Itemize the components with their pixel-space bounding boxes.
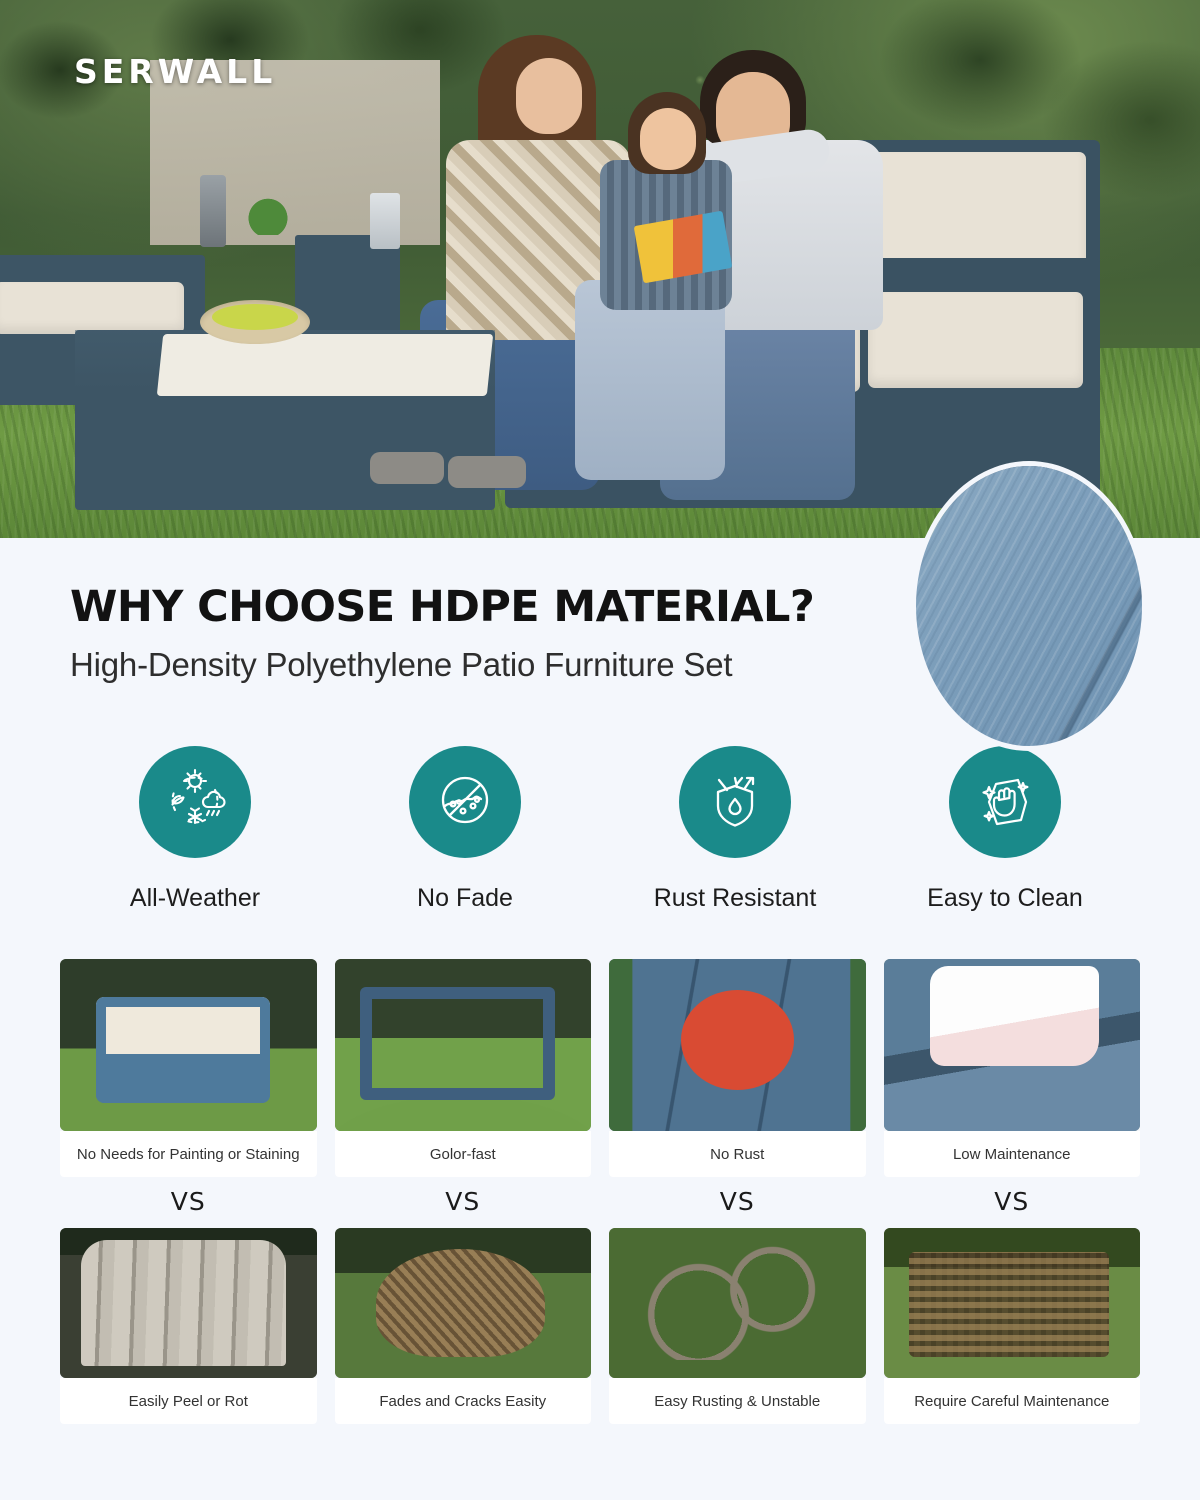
- comparison-cell: Easy Rusting & Unstable: [609, 1228, 866, 1424]
- lantern-decor: [200, 175, 226, 247]
- feature-label: Easy to Clean: [927, 884, 1083, 913]
- hand-wiping-blue-surface-photo: [884, 959, 1141, 1131]
- hdpe-photo-row: No Needs for Painting or Staining Golor-…: [60, 959, 1140, 1177]
- photo-caption: Fades and Cracks Easity: [335, 1378, 592, 1424]
- feature-label: No Fade: [417, 884, 513, 913]
- vs-label: VS: [60, 1187, 317, 1216]
- chair-left-cushion: [0, 282, 184, 334]
- hand-wiping-cloth-icon: [969, 764, 1041, 841]
- photo-caption: Golor-fast: [335, 1131, 592, 1177]
- shoe-left: [370, 452, 444, 484]
- comparison-cell: Fades and Cracks Easity: [335, 1228, 592, 1424]
- feature-rust-resistant: Rust Resistant: [600, 746, 870, 913]
- feature-icon-badge: [949, 746, 1061, 858]
- blue-table-with-fruit-photo: [609, 959, 866, 1131]
- shield-water-drop-icon: [699, 764, 771, 841]
- feature-no-fade: No Fade: [330, 746, 600, 913]
- feature-all-weather: All-Weather: [60, 746, 330, 913]
- hdpe-material-swatch: [916, 466, 1142, 746]
- comparison-cell: Require Careful Maintenance: [884, 1228, 1141, 1424]
- brand-logo: SERWALL: [74, 52, 276, 91]
- vs-separator-row: VS VS VS VS: [60, 1187, 1140, 1216]
- feature-easy-to-clean: Easy to Clean: [870, 746, 1140, 913]
- feature-label: All-Weather: [130, 884, 260, 913]
- photo-caption: No Rust: [609, 1131, 866, 1177]
- comparison-cell: No Needs for Painting or Staining: [60, 959, 317, 1177]
- other-materials-photo-row: Easily Peel or Rot Fades and Cracks Easi…: [60, 1228, 1140, 1424]
- blue-hdpe-chair-on-lawn-photo: [335, 959, 592, 1131]
- comparison-grid: No Needs for Painting or Staining Golor-…: [60, 959, 1140, 1424]
- boy-face: [640, 108, 696, 170]
- feature-label: Rust Resistant: [654, 884, 817, 913]
- feature-list: All-Weather No Fade: [60, 746, 1140, 913]
- comparison-cell: No Rust: [609, 959, 866, 1177]
- vs-label: VS: [609, 1187, 866, 1216]
- boy-legs: [575, 280, 725, 480]
- vs-label: VS: [884, 1187, 1141, 1216]
- comparison-cell: Low Maintenance: [884, 959, 1141, 1177]
- rusted-metal-furniture-photo: [609, 1228, 866, 1378]
- comparison-cell: Easily Peel or Rot: [60, 1228, 317, 1424]
- weathered-peeling-wood-chair-photo: [60, 1228, 317, 1378]
- table-runner: [157, 334, 494, 396]
- photo-caption: Easily Peel or Rot: [60, 1378, 317, 1424]
- sofa-seat-cushion-right: [868, 292, 1083, 388]
- feature-icon-badge: [409, 746, 521, 858]
- photo-caption: Easy Rusting & Unstable: [609, 1378, 866, 1424]
- shoe-right: [448, 456, 526, 488]
- potted-plant-decor: [248, 193, 288, 235]
- fruit-bowl: [200, 300, 310, 344]
- worn-rattan-furniture-photo: [884, 1228, 1141, 1378]
- woman-face: [516, 58, 582, 134]
- photo-caption: No Needs for Painting or Staining: [60, 1131, 317, 1177]
- no-fade-prohibition-icon: [429, 764, 501, 841]
- comparison-cell: Golor-fast: [335, 959, 592, 1177]
- photo-caption: Low Maintenance: [884, 1131, 1141, 1177]
- hero-banner: SERWALL: [0, 0, 1200, 538]
- faded-cracked-wicker-photo: [335, 1228, 592, 1378]
- blue-hdpe-armchair-photo: [60, 959, 317, 1131]
- all-weather-seasons-icon: [159, 764, 231, 841]
- feature-icon-badge: [139, 746, 251, 858]
- pitcher-decor: [370, 193, 400, 249]
- feature-icon-badge: [679, 746, 791, 858]
- photo-caption: Require Careful Maintenance: [884, 1378, 1141, 1424]
- vs-label: VS: [335, 1187, 592, 1216]
